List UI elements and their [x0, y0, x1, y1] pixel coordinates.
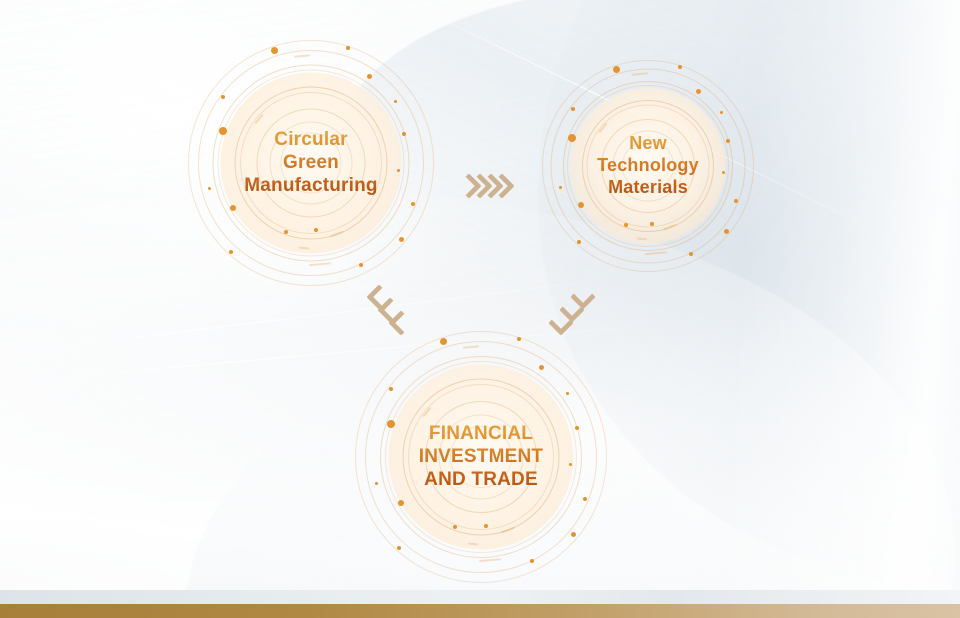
- node-orbit-dot: [720, 111, 723, 114]
- node-ring-tick: [632, 72, 648, 75]
- node-ring-tick: [479, 558, 501, 562]
- node-orbit-dot: [411, 202, 415, 206]
- footer-gold-bar: [0, 604, 960, 618]
- node-orbit-dot: [530, 559, 534, 563]
- node-new-technology-materials[interactable]: New Technology Materials: [543, 61, 753, 271]
- node-ring-tick: [294, 54, 310, 57]
- slide-canvas: Circular Green Manufacturing New Technol…: [0, 0, 960, 618]
- node-orbit-dot: [583, 497, 587, 501]
- node-orbit-dot: [571, 107, 575, 111]
- node-orbit-dot: [367, 74, 372, 79]
- node-orbit-dot: [650, 222, 654, 226]
- node-label: Circular Green Manufacturing: [196, 128, 426, 198]
- node-orbit-dot: [359, 263, 363, 267]
- node-label: FINANCIAL INVESTMENT AND TRADE: [366, 422, 596, 492]
- node-orbit-dot: [399, 237, 404, 242]
- node-orbit-dot: [539, 365, 544, 370]
- node-ring-tick: [645, 251, 667, 255]
- node-orbit-dot: [230, 205, 236, 211]
- node-orbit-dot: [221, 95, 225, 99]
- node-orbit-dot: [571, 532, 576, 537]
- node-orbit-dot: [389, 387, 393, 391]
- node-circular-green-manufacturing[interactable]: Circular Green Manufacturing: [189, 41, 433, 285]
- node-orbit-dot: [578, 202, 584, 208]
- node-ring-tick: [309, 262, 331, 266]
- node-orbit-dot: [397, 546, 401, 550]
- node-orbit-dot: [394, 100, 397, 103]
- node-orbit-dot: [284, 230, 288, 234]
- node-orbit-dot: [517, 337, 521, 341]
- node-orbit-dot: [229, 250, 233, 254]
- node-financial-investment-and-trade[interactable]: FINANCIAL INVESTMENT AND TRADE: [356, 332, 606, 582]
- node-orbit-dot: [314, 228, 318, 232]
- node-orbit-dot: [689, 252, 693, 256]
- node-orbit-dot: [613, 66, 620, 73]
- node-orbit-dot: [271, 47, 278, 54]
- node-ring-tick: [463, 346, 479, 349]
- footer-shelf: [0, 590, 960, 604]
- node-orbit-dot: [346, 46, 350, 50]
- node-label: New Technology Materials: [533, 133, 763, 199]
- node-orbit-dot: [484, 524, 488, 528]
- node-orbit-dot: [440, 338, 447, 345]
- node-orbit-dot: [577, 240, 581, 244]
- node-orbit-dot: [566, 392, 569, 395]
- node-orbit-dot: [696, 89, 701, 94]
- node-orbit-dot: [724, 229, 729, 234]
- node-orbit-dot: [678, 65, 682, 69]
- node-orbit-dot: [734, 199, 738, 203]
